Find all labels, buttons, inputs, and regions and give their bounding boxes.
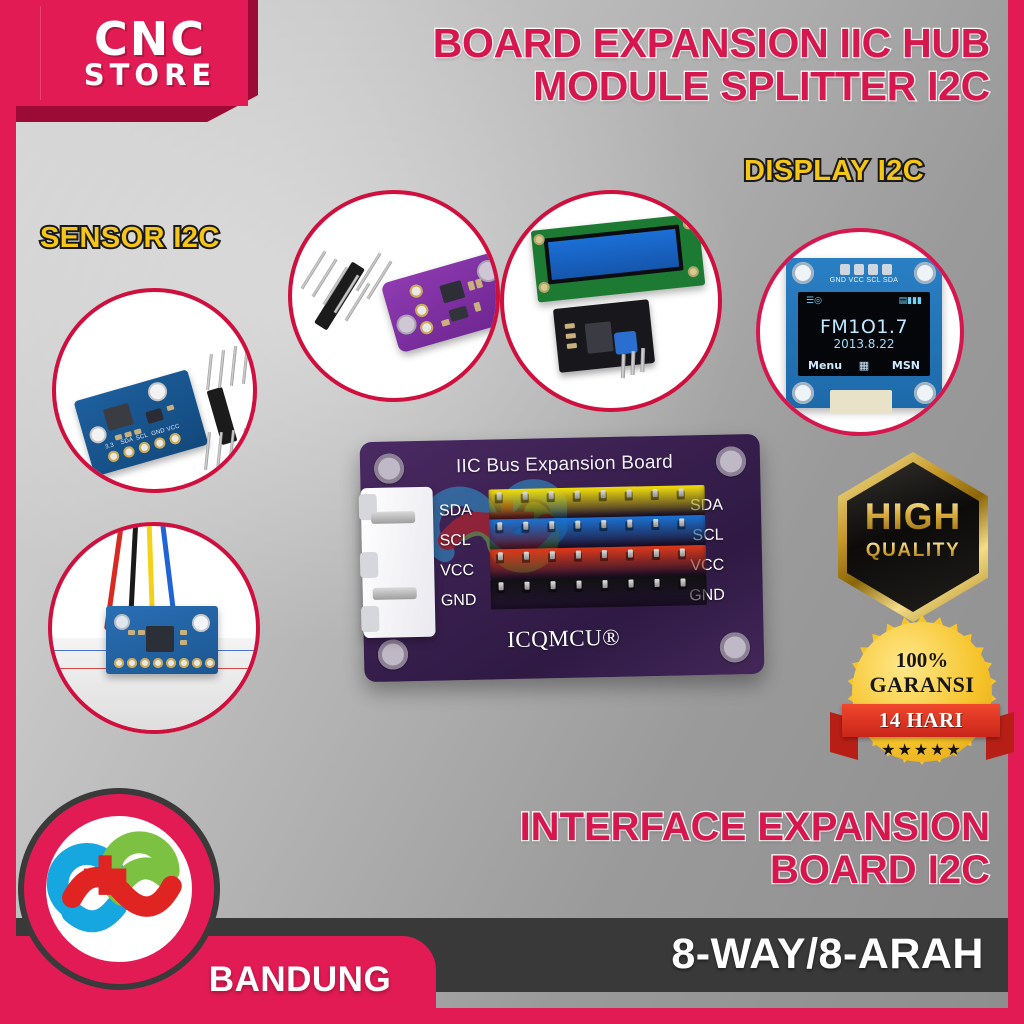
thumbnail-mpu6050 <box>48 522 260 734</box>
page-subtitle-line1: INTERFACE EXPANSION <box>370 806 990 849</box>
header-banner: CNC STORE <box>0 0 248 106</box>
lcd-screen <box>544 224 684 284</box>
badge-quality-line2: QUALITY <box>838 540 988 562</box>
oled-menu-left: Menu <box>808 359 842 372</box>
bmp-sensor-module: 3.3 SDA SCL GND VCC <box>74 369 209 477</box>
thumbnail-lcd1602 <box>500 190 722 412</box>
pin-header-row-sda <box>489 485 706 520</box>
label-sensor-i2c: SENSOR I2C <box>40 222 220 255</box>
thumbnail-oled: GND VCC SCL SDA ☰◎ ▤▮▮▮ FM1O1.7 2013.8.2… <box>756 228 964 436</box>
page-subtitle-line2: BOARD I2C <box>370 849 990 892</box>
signal-icon: ☰◎ <box>806 296 822 306</box>
screw-terminal-block <box>360 487 435 638</box>
main-product-board: IIC Bus Expansion Board SDA SCL VCC GND … <box>352 438 772 690</box>
badge-high-quality: HIGH QUALITY <box>838 452 988 622</box>
page-title-line1: BOARD EXPANSION IIC HUB <box>350 22 990 65</box>
page-title-line2: MODULE SPLITTER I2C <box>350 65 990 108</box>
footer-way-label: 8-WAY/8-ARAH <box>671 930 984 979</box>
brand-logo: CNC STORE <box>80 18 220 89</box>
brand-logo-line2: STORE <box>80 62 220 89</box>
page-subtitle: INTERFACE EXPANSION BOARD I2C <box>370 806 990 892</box>
lcd-i2c-backpack <box>553 299 655 373</box>
pin-header-row-vcc <box>490 545 707 580</box>
page-title: BOARD EXPANSION IIC HUB MODULE SPLITTER … <box>350 22 990 109</box>
oled-station: FM1O1.7 <box>798 316 930 338</box>
company-logo-icon <box>46 816 192 962</box>
battery-icon: ▤▮▮▮ <box>899 296 922 306</box>
oled-display-module: GND VCC SCL SDA ☰◎ ▤▮▮▮ FM1O1.7 2013.8.2… <box>786 258 942 408</box>
board-silkscreen-title: IIC Bus Expansion Board <box>456 452 673 479</box>
thumbnail-purple-tof <box>288 190 500 402</box>
board-left-label-vcc: VCC <box>440 562 474 581</box>
oled-flex-connector <box>830 390 892 414</box>
lcd1602-display <box>531 213 706 302</box>
pin-header-row-gnd <box>490 575 707 610</box>
mpu6050-module <box>106 606 218 674</box>
badge-warranty-ribbon-text: 14 HARI <box>842 704 1000 737</box>
badge-warranty-word: GARANSI <box>846 672 998 698</box>
thumbnail-sensor-breakout: 3.3 SDA SCL GND VCC <box>52 288 257 493</box>
brand-logo-line1: CNC <box>80 18 220 60</box>
product-listing-image: CNC STORE BOARD EXPANSION IIC HUB MODULE… <box>0 0 1024 1024</box>
badge-quality-line1: HIGH <box>838 496 988 538</box>
pin-header-row-scl <box>489 515 706 550</box>
board-left-label-sda: SDA <box>439 502 472 521</box>
badge-warranty: 100% GARANSI ★★★★★ 14 HARI <box>846 620 998 774</box>
label-display-i2c: DISPLAY I2C <box>744 155 924 188</box>
badge-warranty-stars: ★★★★★ <box>846 740 998 760</box>
oled-menu-right: MSN <box>892 359 920 372</box>
board-left-label-gnd: GND <box>441 592 477 611</box>
board-left-label-scl: SCL <box>439 532 470 551</box>
oled-menu-icon: ▦ <box>859 359 869 372</box>
badge-warranty-percent: 100% <box>846 648 998 673</box>
vl53l0x-module <box>380 251 500 354</box>
footer-logo-badge <box>24 794 214 984</box>
badge-warranty-ribbon: 14 HARI <box>842 704 1000 737</box>
iic-bus-expansion-board: IIC Bus Expansion Board SDA SCL VCC GND … <box>360 434 765 682</box>
footer-city-label: BANDUNG <box>209 960 391 1000</box>
oled-screen: ☰◎ ▤▮▮▮ FM1O1.7 2013.8.22 Menu MSN ▦ <box>798 292 930 376</box>
oled-date: 2013.8.22 <box>798 337 930 351</box>
